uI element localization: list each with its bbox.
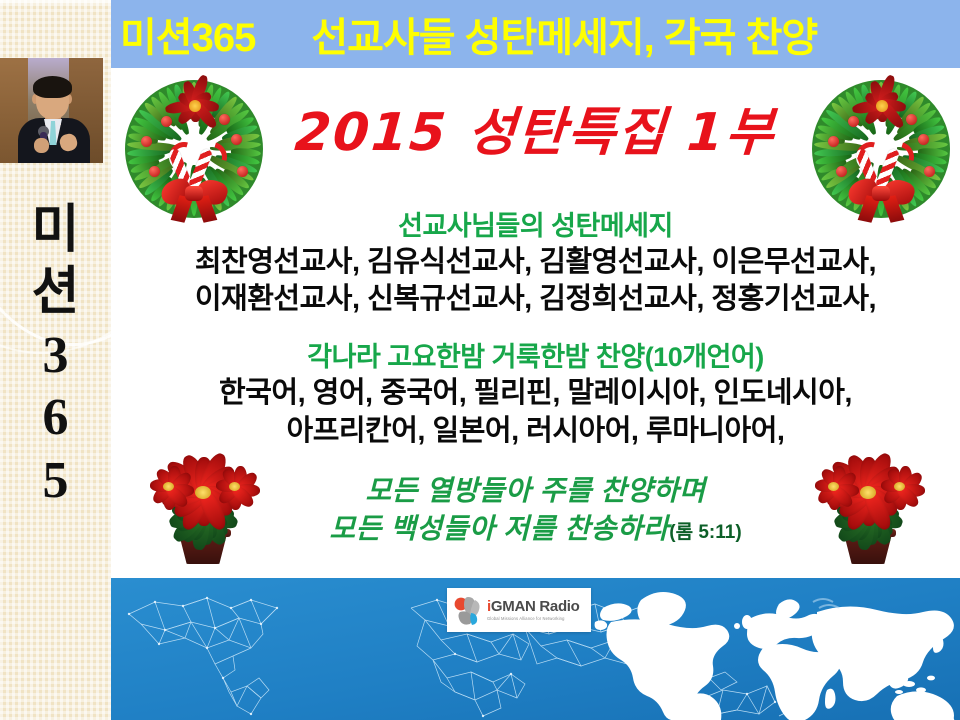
sidebar-brand-char-0: 미 xyxy=(0,200,111,262)
igman-radio-logo: iGMAN Radio Global Missions Alliance for… xyxy=(447,588,591,632)
poinsettia-center xyxy=(860,486,876,499)
poinsettia-center-2 xyxy=(828,482,839,491)
igman-logo-mark-icon xyxy=(454,595,482,625)
igman-logo-rest: GMAN Radio xyxy=(491,598,580,615)
verse-reference: (롬 5:11) xyxy=(669,522,741,543)
igman-logo-name: iGMAN Radio xyxy=(487,599,580,614)
igman-logo-textblock: iGMAN Radio Global Missions Alliance for… xyxy=(487,599,580,621)
header-subject-label: 선교사들 성탄메세지, 각국 찬양 xyxy=(311,5,817,63)
poinsettia-center-2 xyxy=(163,482,174,491)
poinsettia-center-3 xyxy=(894,482,905,491)
verse-line-2: 모든 백성들아 저를 찬송하라(롬 5:11) xyxy=(111,510,960,548)
missionary-names-line-2: 이재환선교사, 신복규선교사, 김정희선교사, 정홍기선교사, xyxy=(111,281,960,319)
sidebar-brand-char-3: 6 xyxy=(0,387,111,449)
languages-line-1: 한국어, 영어, 중국어, 필리핀, 말레이시아, 인도네시아, xyxy=(111,375,960,413)
sidebar-top-band xyxy=(0,0,111,3)
verse-line-2-text: 모든 백성들아 저를 찬송하라 xyxy=(329,513,669,544)
wreath-berry xyxy=(836,166,847,177)
photo-hand-left xyxy=(34,138,49,153)
section-spacer xyxy=(111,319,960,341)
bottom-world-map-banner: iGMAN Radio Global Missions Alliance for… xyxy=(111,578,960,720)
poinsettia-core xyxy=(876,100,888,112)
sidebar-brand-vertical: 미 션 3 6 5 xyxy=(0,200,111,512)
left-sidebar: 미 션 3 6 5 xyxy=(0,0,111,720)
photo-hair xyxy=(33,76,72,98)
poinsettia-core xyxy=(189,100,201,112)
main-content-panel: 2015 성탄특집 1부 선교사님들의 성탄메세지 최찬영선교사, 김유식선교사… xyxy=(111,68,960,578)
wreath-berry xyxy=(924,166,935,177)
languages-line-2: 아프리칸어, 일본어, 러시아어, 루마니아어, xyxy=(111,413,960,451)
section-heading-languages: 각나라 고요한밤 거룩한밤 찬양(10개언어) xyxy=(111,341,960,375)
header-title: 미션365 선교사들 성탄메세지, 각국 찬양 xyxy=(111,5,817,63)
header-bar: 미션365 선교사들 성탄메세지, 각국 찬양 xyxy=(111,0,960,68)
sidebar-brand-char-1: 션 xyxy=(0,262,111,324)
bow-knot xyxy=(185,186,203,201)
section-heading-messages: 선교사님들의 성탄메세지 xyxy=(111,210,960,244)
bow-knot xyxy=(872,186,890,201)
wreath-berry xyxy=(149,166,160,177)
slide-root: 미 션 3 6 5 미션365 선교사들 성탄메세지, 각국 찬양 xyxy=(0,0,960,720)
sidebar-brand-char-2: 3 xyxy=(0,325,111,387)
header-brand-label: 미션365 xyxy=(120,5,255,63)
poinsettia-center xyxy=(195,486,211,499)
missionary-names-line-1: 최찬영선교사, 김유식선교사, 김활영선교사, 이은무선교사, xyxy=(111,244,960,282)
poinsettia-center-3 xyxy=(229,482,240,491)
page-title: 2015 성탄특집 1부 xyxy=(111,90,960,165)
content-text-block: 선교사님들의 성탄메세지 최찬영선교사, 김유식선교사, 김활영선교사, 이은무… xyxy=(111,210,960,450)
wreath-berry xyxy=(237,166,248,177)
sidebar-brand-char-4: 5 xyxy=(0,450,111,512)
speaker-photo xyxy=(0,58,103,163)
igman-logo-tagline: Global Missions Alliance for Networking xyxy=(487,617,580,621)
